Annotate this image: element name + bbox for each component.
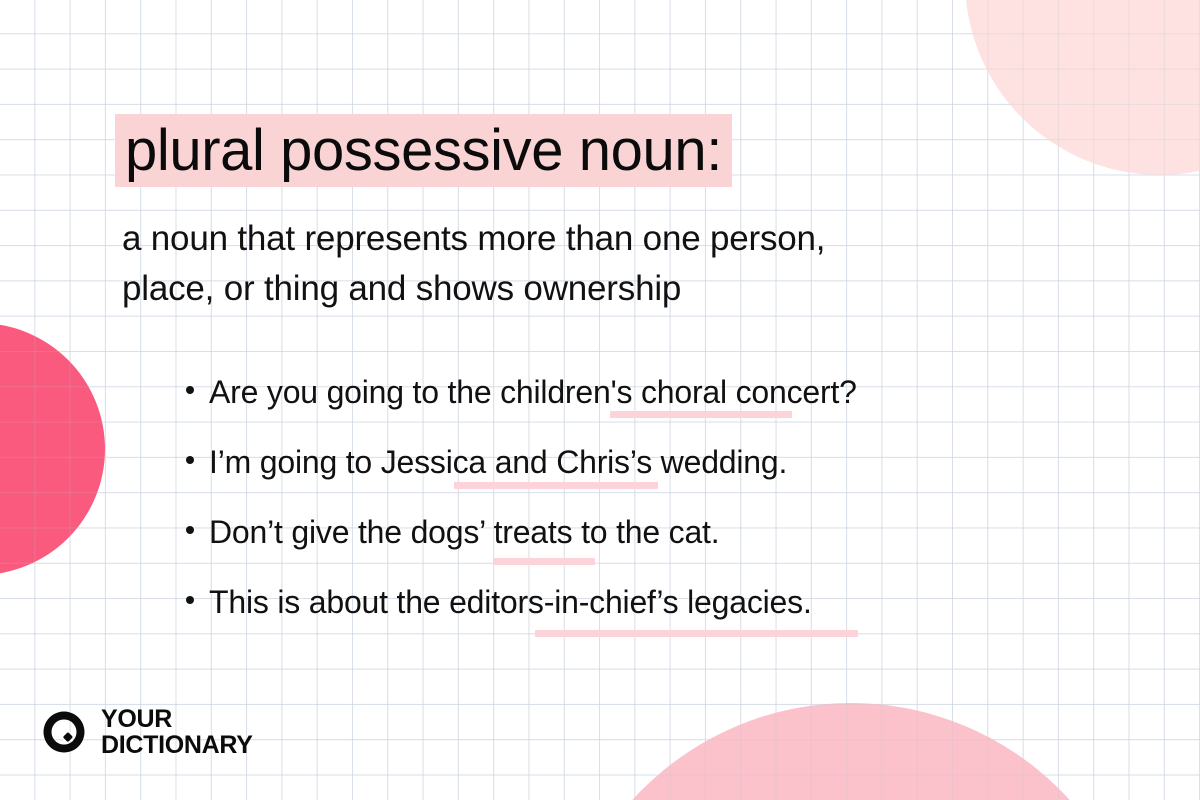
example-line: Don’t give the dogs’ treats to the cat. (186, 510, 719, 554)
phrase-underline (535, 630, 858, 637)
bullet-icon (186, 386, 194, 394)
example-text: Don’t give the dogs’ treats to the cat. (209, 510, 719, 554)
bullet-icon (186, 596, 194, 604)
example-text: I’m going to Jessica and Chris’s wedding… (209, 440, 787, 484)
term-title-wrapper: plural possessive noun: (115, 114, 732, 187)
phrase-underline (493, 558, 595, 565)
page-title: plural possessive noun: (115, 114, 732, 187)
phrase-underline (454, 482, 658, 489)
brand-logo-line-1: YOUR (101, 706, 253, 732)
example-line: Are you going to the children's choral c… (186, 370, 857, 414)
infographic-card: plural possessive noun: a noun that repr… (0, 0, 1200, 800)
bullet-icon (186, 456, 194, 464)
phrase-underline (610, 411, 792, 418)
bullet-icon (186, 526, 194, 534)
brand-logo[interactable]: YOUR DICTIONARY (40, 706, 253, 758)
brand-logo-text: YOUR DICTIONARY (101, 706, 253, 758)
example-text: This is about the editors-in-chief’s leg… (209, 580, 812, 624)
example-line: This is about the editors-in-chief’s leg… (186, 580, 812, 624)
definition-line-1: a noun that represents more than one per… (122, 214, 1052, 264)
yourdictionary-q-mark-icon (40, 708, 88, 756)
definition-line-2: place, or thing and shows ownership (122, 264, 1052, 314)
brand-logo-line-2: DICTIONARY (101, 732, 253, 758)
example-text: Are you going to the children's choral c… (209, 370, 857, 414)
card-content: plural possessive noun: a noun that repr… (0, 0, 1200, 800)
term-definition: a noun that represents more than one per… (122, 214, 1052, 314)
example-line: I’m going to Jessica and Chris’s wedding… (186, 440, 787, 484)
